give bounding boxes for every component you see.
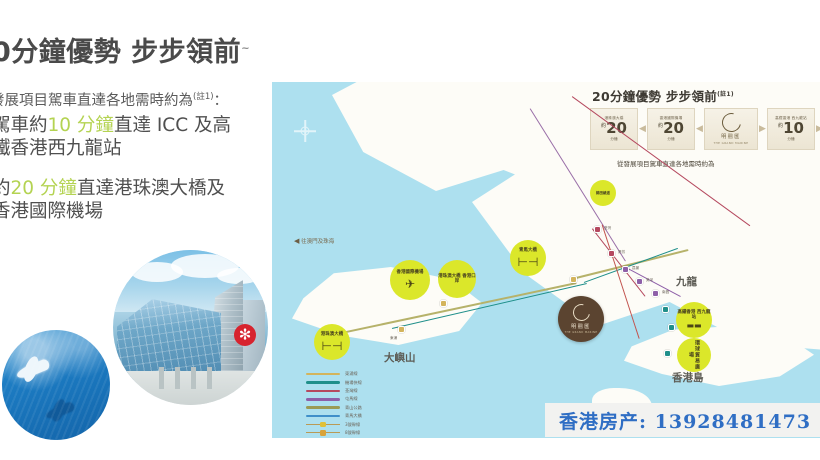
time-chip-west-kowloon[interactable]: 高鐵香港 西九龍站 約10 分鐘	[767, 108, 815, 150]
poi-hzmb-bridge-label: 港珠澳大橋	[321, 332, 343, 337]
to-macau-zhuhai-label: ◀ 往澳門及珠海	[294, 237, 334, 245]
legend-item: 荃灣線	[306, 387, 362, 395]
bullet-1-post: 直達 ICC 及高	[114, 115, 231, 136]
grand-marine-logo-icon	[718, 109, 744, 135]
poi-hzmb-port-label: 港珠澳大橋 香港口岸	[438, 274, 476, 285]
plaza-pillar	[191, 367, 196, 389]
station-kowloon[interactable]	[668, 324, 675, 331]
time-chip-project-logo[interactable]: 明翹匯 THE GRAND MARINE	[704, 108, 758, 150]
slide-root: 0分鐘優勢 步步領前~ 發展項目駕車直達各地需時約為(註1)： 駕車約10 分鐘…	[0, 0, 820, 460]
bullet-1-line1: 駕車約10 分鐘直達 ICC 及高	[0, 115, 231, 138]
chevron-left-icon: ◀	[638, 125, 647, 134]
map-legend: 東涌線 機場快線 荃灣線 屯馬線 青山公路 青馬大橋	[306, 370, 362, 437]
time-chip-airport-unit: 分鐘	[667, 137, 674, 142]
time-chip-west-kowloon-value: 約10	[778, 121, 804, 136]
subtitle-note-superscript: (註1)	[193, 92, 214, 102]
poi-tsing-ma-bridge[interactable]: 青馬大橋 ⊢⊣	[510, 240, 546, 276]
legend-item: 青馬大橋	[306, 412, 362, 420]
project-name-cn: 明翹匯	[721, 133, 741, 140]
station-tsuen-wan-label: 荃灣	[604, 226, 611, 231]
station-tsing-yi[interactable]	[570, 276, 577, 283]
plaza-pillar	[207, 367, 212, 389]
legend-line-swatch	[306, 415, 340, 418]
legend-line-swatch	[306, 381, 340, 384]
project-logo-cn: 明翹匯	[571, 323, 591, 330]
time-chip-hzmb-unit: 分鐘	[610, 137, 617, 142]
legend-line-swatch	[306, 398, 340, 401]
bauhinia-emblem-icon	[234, 324, 256, 346]
watermark-text: 香港房产: 13928481473	[545, 407, 811, 434]
station-sunny-bay[interactable]	[440, 300, 447, 307]
bridge-icon: ⊢⊣	[518, 256, 539, 268]
compass-icon	[294, 120, 316, 142]
subtitle-note-text: 發展項目駕車直達各地需時約為	[0, 93, 193, 109]
project-name-en: THE GRAND MARINE	[714, 141, 749, 145]
chevron-left-icon: ◀	[695, 125, 704, 134]
legend-item: 3號幹線	[306, 420, 362, 428]
legend-label: 青山公路	[345, 405, 362, 411]
bullet-2-line2: 香港國際機場	[0, 201, 225, 224]
airplane-over-ocean-photo	[2, 330, 110, 440]
cloud-shape	[217, 268, 261, 284]
bullet-1-pre: 駕車約	[0, 115, 48, 136]
station-kwai-fong-label: 葵芳	[618, 250, 625, 255]
poi-hk-airport-label: 香港國際機場	[397, 270, 424, 275]
time-chip-airport[interactable]: 香港國際機場 約20 分鐘	[647, 108, 695, 150]
station-hk[interactable]	[664, 350, 671, 357]
bullet-item-1: 駕車約10 分鐘直達 ICC 及高 鐵香港西九龍站	[0, 115, 231, 160]
legend-item: 青山公路	[306, 404, 362, 412]
arrow-left-icon: ◀	[294, 237, 299, 245]
legend-line-swatch	[306, 406, 340, 409]
chevron-right-icon: ▶	[758, 125, 767, 134]
poi-icc-label: 環球貿易廣場	[688, 338, 700, 372]
poi-north-route[interactable]: 錦田繞道	[590, 180, 616, 206]
legend-route-marker	[306, 432, 340, 435]
bridge-icon: ⊢⊣	[322, 340, 343, 352]
poi-west-kowloon[interactable]: 高鐵香港 西九龍站 ▬▬	[676, 302, 712, 338]
legend-label: 8號幹線	[345, 430, 360, 436]
bullet-item-2: 約20 分鐘直達港珠澳大橋及 香港國際機場	[0, 178, 225, 223]
regional-transport-map[interactable]: 20分鐘優勢 步步領前(註1) 港珠澳大橋 約20 分鐘 ◀ 香港國際機場 約2…	[272, 82, 820, 438]
page-title: 0分鐘優勢 步步領前~	[0, 30, 250, 69]
legend-label: 東涌線	[345, 371, 358, 377]
station-tung-chung-label: 東涌	[390, 336, 397, 341]
project-logo-marker[interactable]: 明翹匯 THE GRAND MARINE	[558, 296, 604, 342]
station-nam-cheong[interactable]	[652, 290, 659, 297]
legend-item: 機場快線	[306, 378, 362, 386]
legend-label: 青馬大橋	[345, 413, 362, 419]
train-icon: ▬▬	[686, 322, 701, 330]
bullet-2-post: 直達港珠澳大橋及	[77, 178, 225, 199]
travel-time-chain: 港珠澳大橋 約20 分鐘 ◀ 香港國際機場 約20 分鐘 ◀ 明翹匯 THE G…	[590, 108, 820, 150]
station-mei-foo-label: 美孚	[646, 278, 653, 283]
subtitle-note-colon: ：	[214, 93, 229, 109]
airplane-icon: ✈	[405, 278, 415, 290]
map-header-title-text: 20分鐘優勢 步步領前	[592, 89, 717, 104]
bullet-2-pre: 約	[0, 178, 11, 199]
station-tsuen-wan[interactable]	[594, 226, 601, 233]
station-tung-chung[interactable]	[398, 326, 405, 333]
airplane-icon	[15, 358, 51, 381]
bullet-1-highlight: 10 分鐘	[48, 115, 114, 136]
time-chip-west-kowloon-unit: 分鐘	[787, 137, 794, 142]
place-label-kowloon: 九龍	[676, 274, 697, 289]
map-header-title: 20分鐘優勢 步步領前(註1)	[592, 86, 734, 105]
station-olympic[interactable]	[662, 306, 669, 313]
bullet-2-highlight: 20 分鐘	[11, 178, 77, 199]
station-mei-foo[interactable]	[636, 278, 643, 285]
to-macau-zhuhai-text: 往澳門及珠海	[301, 239, 334, 245]
bullet-2-line1: 約20 分鐘直達港珠澳大橋及	[0, 178, 225, 201]
plaza-pillar	[175, 367, 180, 389]
plaza-pillar	[159, 367, 164, 389]
legend-label: 3號幹線	[345, 422, 360, 428]
poi-hzmb-bridge[interactable]: 港珠澳大橋 ⊢⊣	[314, 324, 350, 360]
poi-icc[interactable]: 環球貿易廣場	[677, 338, 711, 372]
poi-hk-airport[interactable]: 香港國際機場 ✈	[390, 260, 430, 300]
legend-label: 機場快線	[345, 380, 362, 386]
station-nam-cheong-label: 南昌	[662, 290, 669, 295]
page-title-superscript: ~	[241, 43, 250, 54]
place-label-hk-island: 香港島	[672, 370, 704, 385]
chevron-right-icon: ▶	[815, 125, 820, 134]
airplane-shadow	[44, 401, 76, 422]
subtitle-note: 發展項目駕車直達各地需時約為(註1)：	[0, 89, 228, 110]
legend-item: 屯馬線	[306, 395, 362, 403]
legend-line-swatch	[306, 373, 340, 376]
legend-route-marker	[306, 423, 340, 426]
station-lai-king-label: 荔景	[632, 266, 639, 271]
legend-label: 屯馬線	[345, 396, 358, 402]
watermark-banner: 香港房产: 13928481473	[545, 403, 820, 437]
west-kowloon-station-photo	[113, 250, 268, 405]
grand-marine-logo-icon	[569, 301, 592, 324]
poi-hzmb-port[interactable]: 港珠澳大橋 香港口岸	[438, 260, 476, 298]
project-logo-en: THE GRAND MARINE	[565, 331, 598, 334]
poi-tsing-ma-bridge-label: 青馬大橋	[519, 248, 537, 253]
poi-north-route-label: 錦田繞道	[596, 191, 610, 195]
bullet-1-line2: 鐵香港西九龍站	[0, 138, 231, 161]
poi-west-kowloon-label: 高鐵香港 西九龍站	[676, 310, 712, 321]
station-kwai-fong[interactable]	[608, 250, 615, 257]
map-header-superscript: (註1)	[717, 91, 734, 98]
legend-label: 荃灣線	[345, 388, 358, 394]
page-title-text: 0分鐘優勢 步步領前	[0, 37, 241, 68]
time-chip-airport-value: 約20	[658, 121, 684, 136]
station-lai-king[interactable]	[622, 266, 629, 273]
legend-item: 東涌線	[306, 370, 362, 378]
place-label-lantau: 大嶼山	[384, 350, 416, 365]
legend-line-swatch	[306, 390, 340, 393]
legend-item: 8號幹線	[306, 429, 362, 437]
